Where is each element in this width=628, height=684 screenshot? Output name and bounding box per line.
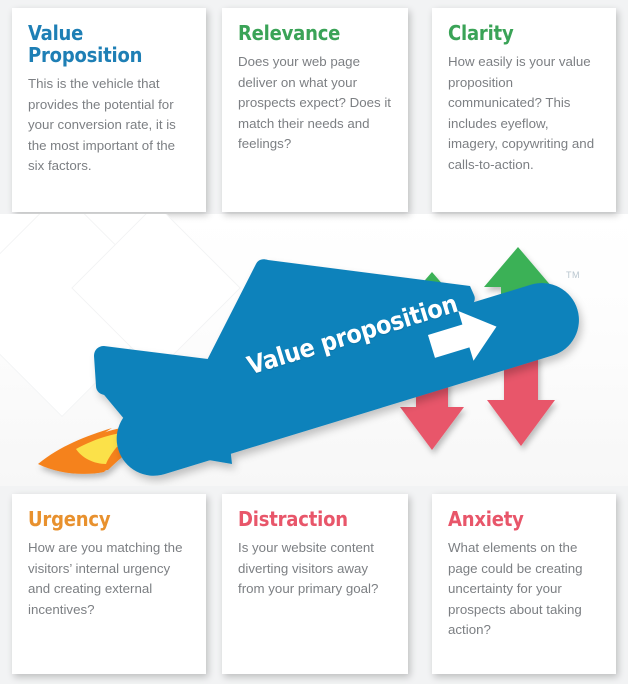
card-body: Does your web page deliver on what your … [238, 52, 392, 155]
card-value-proposition: Value Proposition This is the vehicle th… [12, 8, 206, 212]
card-anxiety: Anxiety What elements on the page could … [432, 494, 616, 674]
card-title: Anxiety [448, 508, 600, 530]
card-title: Distraction [238, 508, 392, 530]
card-clarity: Clarity How easily is your value proposi… [432, 8, 616, 212]
card-title: Value Proposition [28, 22, 190, 66]
card-title: Clarity [448, 22, 600, 44]
card-body: Is your website content diverting visito… [238, 538, 392, 600]
card-body: How easily is your value proposition com… [448, 52, 600, 175]
card-body: This is the vehicle that provides the po… [28, 74, 190, 177]
card-relevance: Relevance Does your web page deliver on … [222, 8, 408, 212]
infographic-canvas: Value Proposition This is the vehicle th… [0, 0, 628, 684]
card-urgency: Urgency How are you matching the visitor… [12, 494, 206, 674]
trademark-mark: TM [566, 270, 580, 280]
card-title: Relevance [238, 22, 392, 44]
card-distraction: Distraction Is your website content dive… [222, 494, 408, 674]
card-body: What elements on the page could be creat… [448, 538, 600, 641]
card-body: How are you matching the visitors’ inter… [28, 538, 190, 620]
card-title: Urgency [28, 508, 190, 530]
